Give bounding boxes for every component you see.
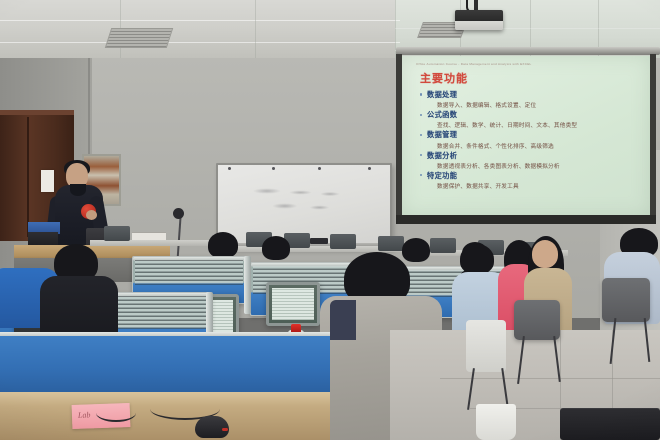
- slide-bullet-heading: 特定功能: [420, 171, 642, 181]
- chair: [514, 300, 560, 340]
- computer-keyboard: [560, 408, 660, 440]
- foreground-partition: [0, 336, 330, 396]
- student-head: [402, 238, 430, 262]
- partition-post: [244, 256, 251, 314]
- slide-bullet-heading: 数据处理: [420, 90, 642, 100]
- student-head: [460, 244, 494, 274]
- back-monitor: [430, 238, 456, 253]
- bottle-cap: [291, 324, 301, 332]
- student-head: [262, 236, 290, 260]
- whiteboard-eraser: [310, 238, 328, 244]
- ceiling-grid-line: [255, 0, 256, 62]
- projector: [455, 10, 503, 30]
- slide-bullet-list: 数据处理 数据导入、数据编辑、格式设置、定位 公式函数 查找、逻辑、数学、统计、…: [420, 90, 642, 191]
- cabinet-top: [0, 110, 74, 115]
- waste-bin: [476, 404, 516, 440]
- screen-frame-right: [650, 54, 656, 222]
- slide-title: 主要功能: [420, 70, 468, 86]
- chair-white: [466, 320, 506, 372]
- desk-cable: [96, 404, 136, 422]
- posted-paper: [41, 170, 54, 192]
- cabinet-door-seam: [27, 117, 29, 237]
- slide-bullet-sub: 查找、逻辑、数学、统计、日期时间、文本、其他类型: [420, 121, 642, 129]
- podium-equipment-box: [28, 232, 58, 246]
- student-monitor-active: [266, 282, 320, 326]
- slide-bullet-item: 特定功能 数据保护、数据共享、开发工具: [420, 171, 642, 190]
- whiteboard-clip: [272, 167, 275, 170]
- student-head: [532, 240, 558, 268]
- whiteboard-clip: [318, 167, 321, 170]
- screen-roller-housing: [396, 47, 660, 55]
- note-text: Lab: [78, 410, 91, 419]
- slide-bullet-sub: 数据保护、数据共享、开发工具: [420, 182, 642, 190]
- partition-glass: [135, 260, 243, 285]
- slide-bullet-item: 数据管理 数据合并、条件格式、个性化排序、高级筛选: [420, 130, 642, 149]
- slide-bullet-heading: 公式函数: [420, 110, 642, 120]
- screen-bottom-bar: [396, 215, 656, 224]
- slide-bullet-item: 数据分析 数据透视表分析、各类图表分析、数据模拟分析: [420, 151, 642, 170]
- microphone: [173, 208, 184, 219]
- whiteboard-clip: [228, 167, 231, 170]
- whiteboard-writing: [248, 185, 353, 215]
- classroom-photo: Office Automation Course - Data Manageme…: [0, 0, 660, 440]
- whiteboard-clip: [368, 167, 371, 170]
- slide-bullet-sub: 数据导入、数据编辑、格式设置、定位: [420, 101, 642, 109]
- slide-header-text: Office Automation Course - Data Manageme…: [416, 62, 642, 66]
- back-monitor: [378, 236, 404, 251]
- projection-screen: Office Automation Course - Data Manageme…: [402, 56, 650, 216]
- slide-bullet-heading: 数据管理: [420, 130, 642, 140]
- monitor-screen-content: [272, 288, 314, 320]
- ceiling-vent: [105, 28, 173, 48]
- slide-bullet-sub: 数据透视表分析、各类图表分析、数据模拟分析: [420, 162, 642, 170]
- back-monitor: [330, 234, 356, 249]
- student-head: [208, 232, 238, 258]
- instructor-hand: [86, 210, 97, 220]
- slide-bullet-item: 公式函数 查找、逻辑、数学、统计、日期时间、文本、其他类型: [420, 110, 642, 129]
- slide-bullet-sub: 数据合并、条件格式、个性化排序、高级筛选: [420, 142, 642, 150]
- chair: [602, 278, 650, 322]
- slide-bullet-item: 数据处理 数据导入、数据编辑、格式设置、定位: [420, 90, 642, 109]
- ceiling-seam: [0, 20, 400, 21]
- computer-mouse: [195, 416, 229, 438]
- student-dark-top-torso: [40, 276, 118, 336]
- slide-bullet-heading: 数据分析: [420, 151, 642, 161]
- ceiling-seam: [0, 42, 400, 43]
- student-collar: [330, 300, 356, 340]
- instructor-collar: [70, 184, 86, 196]
- back-monitor: [104, 226, 130, 241]
- mouse-led: [222, 428, 228, 431]
